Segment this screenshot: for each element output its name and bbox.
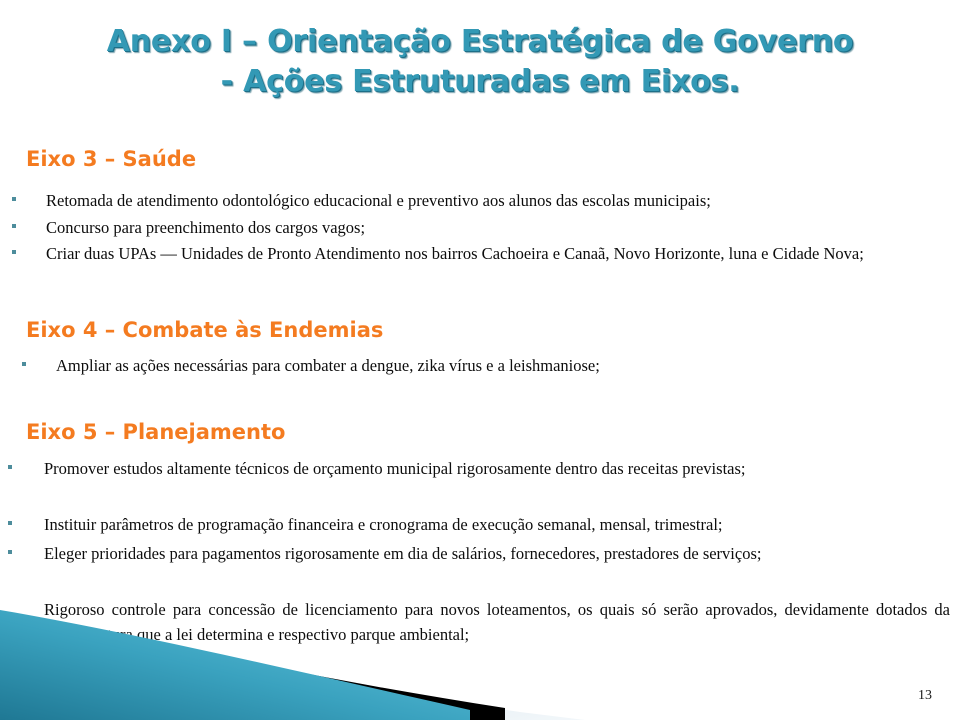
bullet-item: Promover estudos altamente técnicos de o… — [8, 456, 950, 481]
bullet-marker-icon — [12, 224, 16, 228]
bullet-text: Concurso para preenchimento dos cargos v… — [46, 215, 950, 240]
bullet-text: Ampliar as ações necessárias para combat… — [56, 353, 942, 378]
bullet-item: Retomada de atendimento odontológico edu… — [12, 188, 950, 213]
bullet-item: Rigoroso controle para concessão de lice… — [8, 597, 950, 647]
section-heading-eixo-4: Eixo 4 – Combate às Endemias — [26, 317, 383, 343]
bullet-item: Ampliar as ações necessárias para combat… — [22, 353, 942, 378]
bullet-text: Rigoroso controle para concessão de lice… — [44, 597, 950, 647]
slide-title: Anexo I – Orientação Estratégica de Gove… — [0, 22, 960, 102]
slide-title-line-2: - Ações Estruturadas em Eixos. — [0, 62, 960, 102]
section-heading-eixo-5: Eixo 5 – Planejamento — [26, 419, 285, 445]
bullet-text: Instituir parâmetros de programação fina… — [44, 512, 950, 537]
slide-title-line-1: Anexo I – Orientação Estratégica de Gove… — [0, 22, 960, 62]
bullet-marker-icon — [12, 197, 16, 201]
bullet-text: Eleger prioridades para pagamentos rigor… — [44, 541, 950, 566]
bullet-item: Eleger prioridades para pagamentos rigor… — [8, 541, 950, 566]
bullet-item: Instituir parâmetros de programação fina… — [8, 512, 950, 537]
slide-page-number: 13 — [918, 688, 932, 704]
bullet-marker-icon — [22, 362, 26, 366]
bullet-item: Criar duas UPAs — Unidades de Pronto Ate… — [12, 241, 950, 266]
bullet-item: Concurso para preenchimento dos cargos v… — [12, 215, 950, 240]
section-heading-eixo-3: Eixo 3 – Saúde — [26, 146, 196, 172]
bullet-marker-icon — [12, 250, 16, 254]
bullet-text: Criar duas UPAs — Unidades de Pronto Ate… — [46, 241, 950, 266]
bullet-text: Promover estudos altamente técnicos de o… — [44, 456, 950, 481]
presentation-slide: Anexo I – Orientação Estratégica de Gove… — [0, 0, 960, 720]
bullet-marker-icon — [8, 465, 12, 469]
bullet-marker-icon — [8, 550, 12, 554]
bullet-marker-icon — [8, 521, 12, 525]
bullet-text: Retomada de atendimento odontológico edu… — [46, 188, 950, 213]
